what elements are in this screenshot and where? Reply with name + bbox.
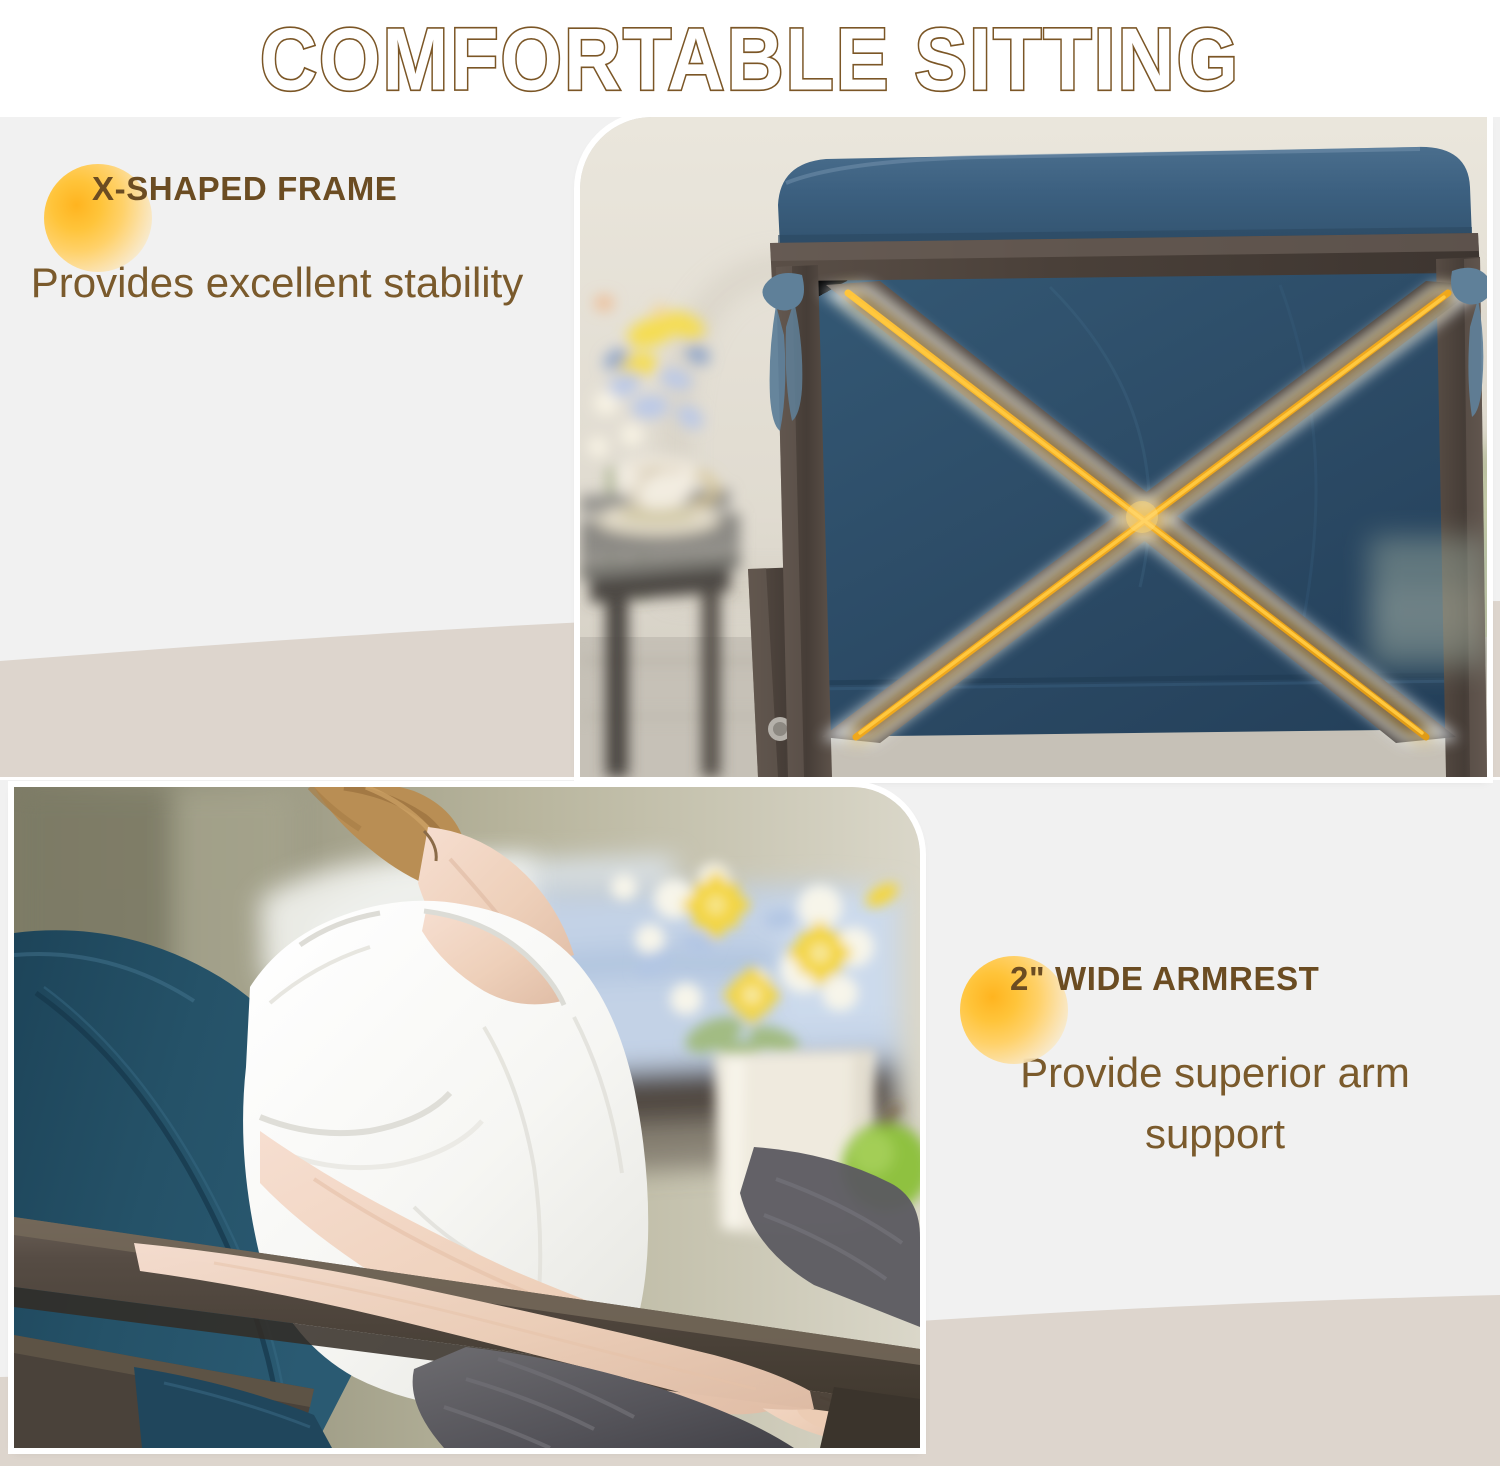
- feature-text-wide-armrest: 2" WIDE ARMREST Provide superior arm sup…: [920, 960, 1500, 1165]
- feature-subcopy-x-frame: Provides excellent stability: [0, 252, 578, 313]
- feature-headline-row-x-frame: X-SHAPED FRAME: [0, 170, 578, 208]
- photo-armrest: [14, 787, 920, 1448]
- photo-x-frame-illustration: [580, 117, 1487, 777]
- photo-armrest-illustration: [14, 787, 920, 1448]
- page-title: COMFORTABLE SITTING: [260, 14, 1240, 102]
- photo-x-frame: [580, 117, 1487, 777]
- feature-headline-row-armrest: 2" WIDE ARMREST: [920, 960, 1500, 998]
- title-band: COMFORTABLE SITTING: [0, 0, 1500, 117]
- feature-subcopy-armrest: Provide superior arm support: [920, 1042, 1500, 1165]
- feature-headline-x-frame: X-SHAPED FRAME: [92, 170, 397, 208]
- feature-text-x-shaped-frame: X-SHAPED FRAME Provides excellent stabil…: [0, 170, 578, 313]
- feature-headline-armrest: 2" WIDE ARMREST: [1010, 960, 1319, 998]
